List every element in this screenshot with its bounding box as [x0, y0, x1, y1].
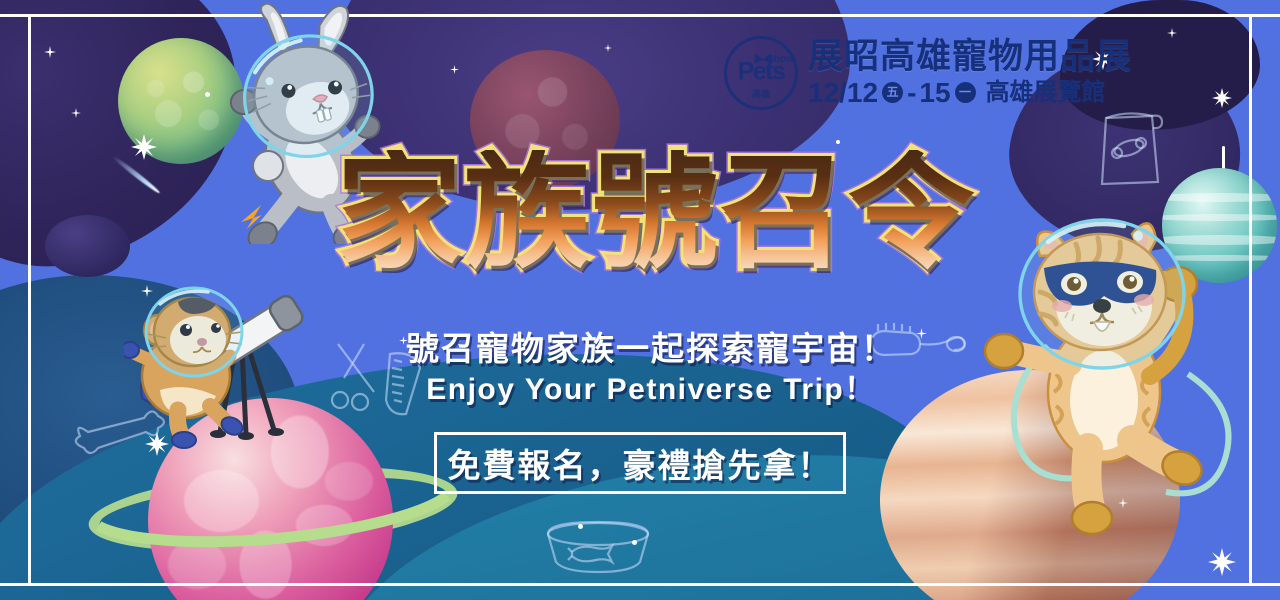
dark-purple-planet [45, 215, 130, 277]
logo-city-text: 高雄 [752, 87, 770, 100]
pet-bowl-icon [538, 518, 658, 580]
date-separator: - [907, 78, 916, 107]
star-sparkle [1212, 88, 1232, 108]
main-title: 家族號召令 [336, 150, 976, 276]
pink-planet-ring-front [88, 470, 458, 552]
subtitle-english: Enjoy Your Petniverse Trip！ [22, 371, 1280, 409]
date-start-day-badge: 五 [882, 82, 903, 103]
event-header: Pets Show 高雄 展昭高雄寵物用品展 12/12 五 - 15 一 高雄… [724, 36, 1132, 110]
subtitle-block: 號召寵物家族一起探索寵宇宙！ Enjoy Your Petniverse Tri… [0, 330, 1280, 408]
logo-show-text: Show [767, 55, 794, 65]
event-name: 展昭高雄寵物用品展 [808, 39, 1132, 76]
frame-bottom-line [0, 583, 1280, 586]
event-venue: 高雄展覽館 [986, 80, 1106, 105]
main-title-wrapper: 家族號召令 家族號召令 家族號召令 [336, 150, 976, 276]
date-start: 12/12 [808, 78, 878, 107]
promo-banner: Pets Show 高雄 展昭高雄寵物用品展 12/12 五 - 15 一 高雄… [0, 0, 1280, 600]
event-date: 12/12 五 - 15 一 高雄展覽館 [808, 78, 1132, 107]
food-bag-icon [1092, 96, 1170, 191]
registration-cta-button[interactable]: 免費報名，豪禮搶先拿！ [434, 432, 846, 494]
date-end: 15 [919, 78, 950, 107]
cta-label: 免費報名，豪禮搶先拿！ [448, 439, 833, 487]
subtitle-chinese: 號召寵物家族一起探索寵宇宙！ [22, 330, 1280, 368]
pets-show-logo: Pets Show 高雄 [724, 36, 798, 110]
frame-top-line [0, 14, 1280, 17]
star-dot [632, 540, 637, 545]
star-dot [578, 524, 583, 529]
date-end-day-badge: 一 [955, 82, 976, 103]
